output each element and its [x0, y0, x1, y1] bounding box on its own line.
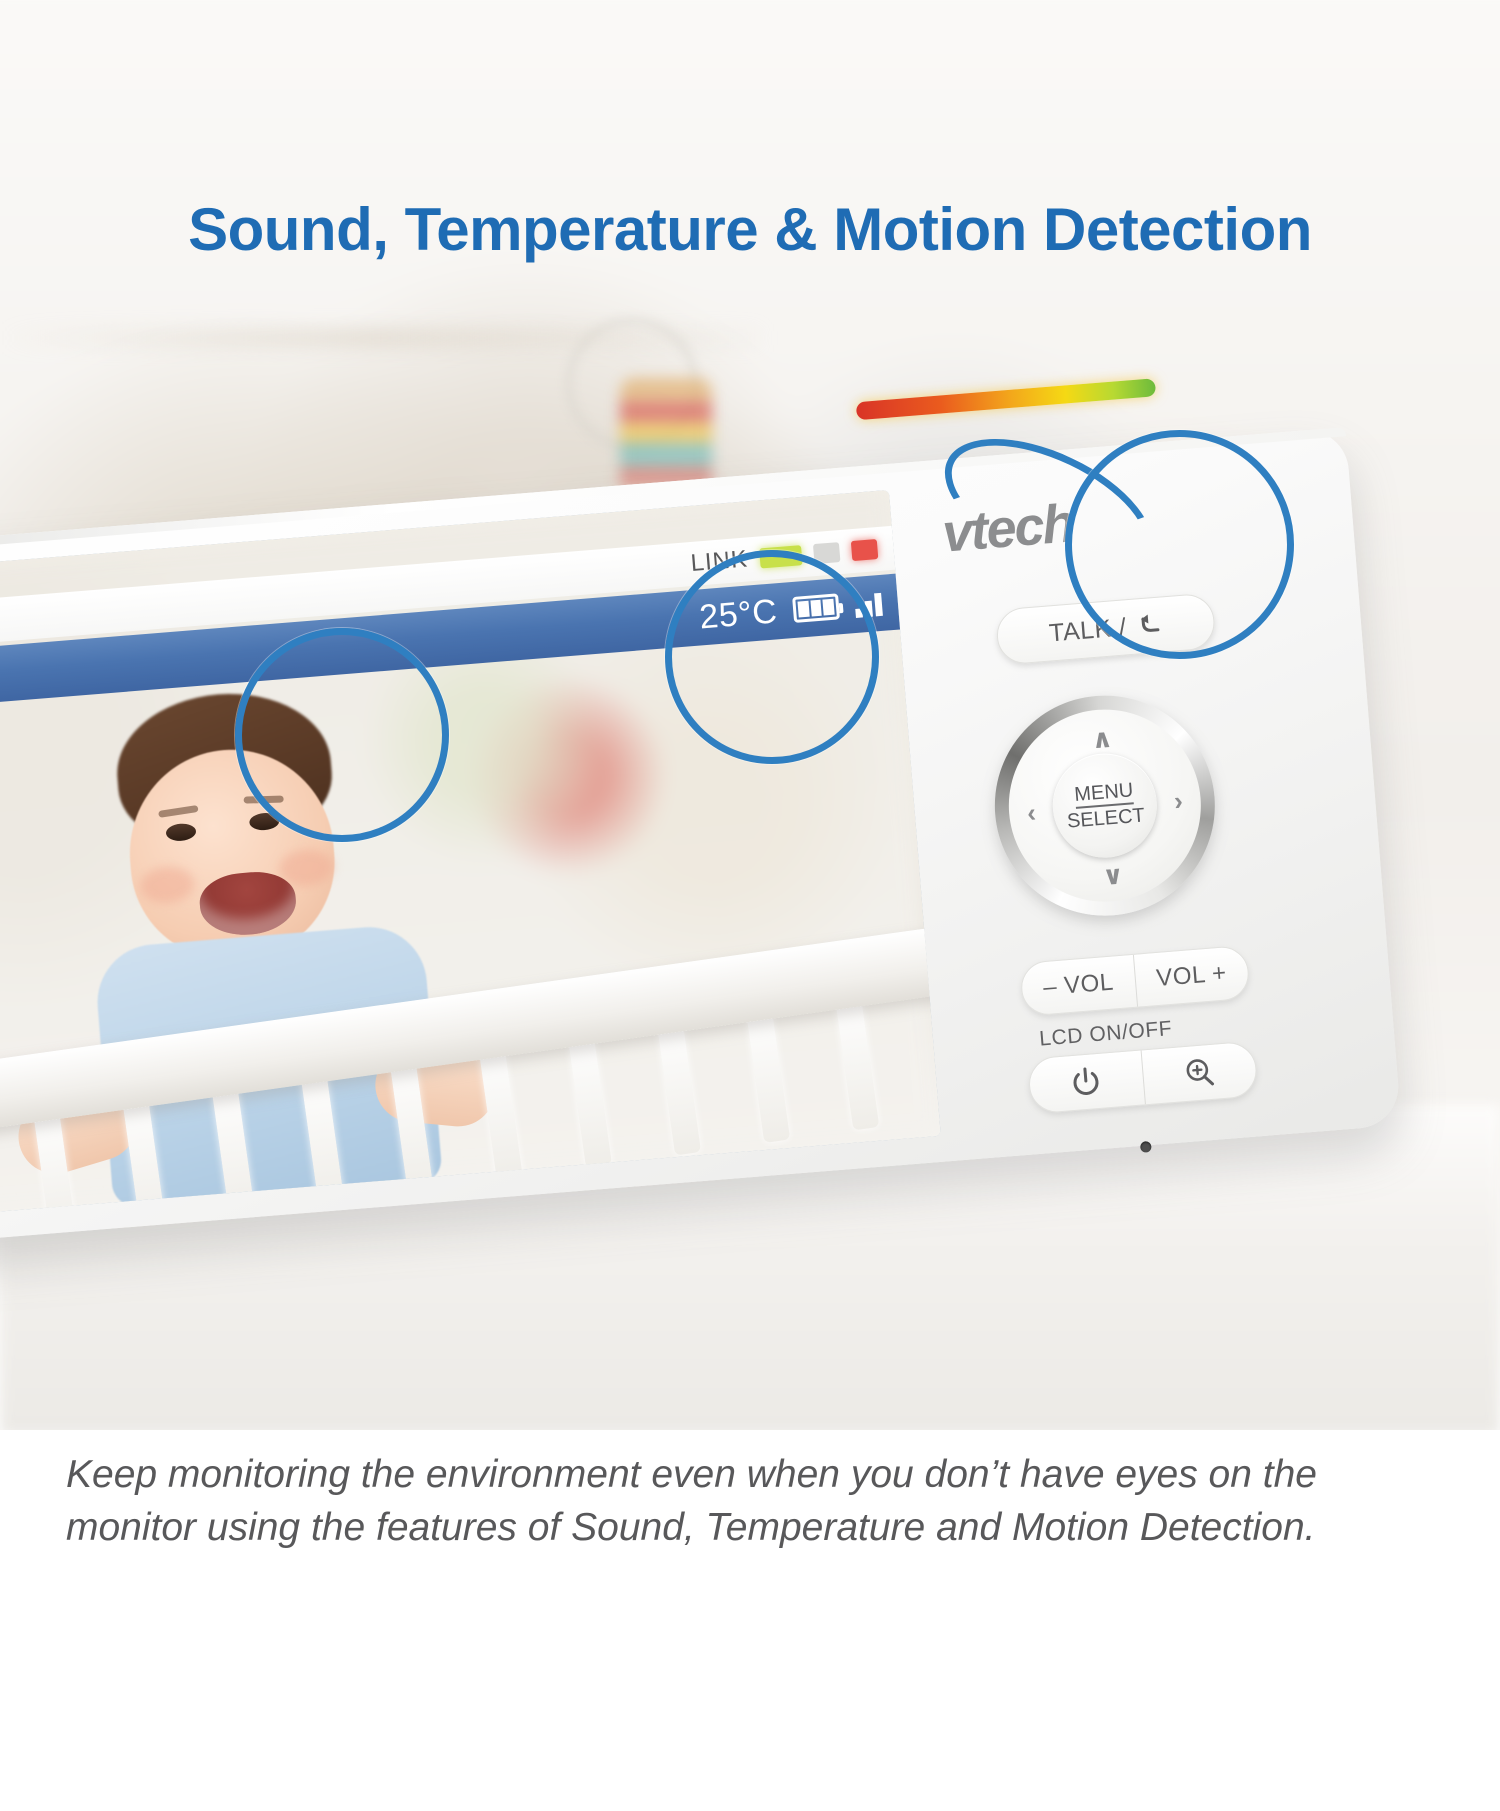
lcd-onoff-label: LCD ON/OFF [1038, 1017, 1173, 1052]
alert-led-icon [851, 539, 879, 561]
select-label: SELECT [1066, 803, 1145, 832]
microphone-hole [1140, 1141, 1152, 1153]
navigation-dpad[interactable]: ∧ ∨ ‹ › MENU SELECT [986, 687, 1223, 924]
dpad-up-button[interactable]: ∧ [1090, 723, 1114, 756]
back-arrow-icon [1135, 612, 1163, 638]
temperature-readout: 25°C [698, 592, 779, 637]
talk-button[interactable]: TALK / [995, 592, 1217, 665]
page-title: Sound, Temperature & Motion Detection [0, 195, 1500, 264]
link-label: LINK [690, 545, 749, 578]
lcd-zoom-control[interactable] [1027, 1040, 1259, 1114]
volume-control[interactable]: – VOL VOL + [1019, 945, 1251, 1017]
volume-down-button[interactable]: – VOL [1020, 955, 1136, 1016]
power-button[interactable] [1028, 1051, 1144, 1114]
talk-button-label: TALK / [1048, 613, 1128, 648]
lcd-screen[interactable]: LINK [0, 490, 941, 1217]
volume-up-button[interactable]: VOL + [1132, 946, 1249, 1007]
baby-monitor-device: LINK [0, 425, 1433, 1263]
zoom-in-button[interactable] [1140, 1041, 1257, 1104]
battery-icon [792, 593, 840, 623]
link-led-icon [759, 545, 802, 568]
control-panel: vtech TALK / ∧ ∨ ‹ › MENU SELECT [899, 453, 1400, 1135]
feature-caption: Keep monitoring the environment even whe… [66, 1448, 1396, 1554]
signal-bars-icon [854, 590, 883, 618]
vtech-logo: vtech [939, 477, 1174, 571]
status-led-grey-icon [813, 542, 841, 564]
baby-brow-right [244, 795, 284, 803]
zoom-in-icon [1182, 1056, 1216, 1090]
power-icon [1070, 1065, 1102, 1099]
status-bar-right: 25°C [698, 583, 884, 637]
dpad-down-button[interactable]: ∨ [1101, 859, 1125, 892]
